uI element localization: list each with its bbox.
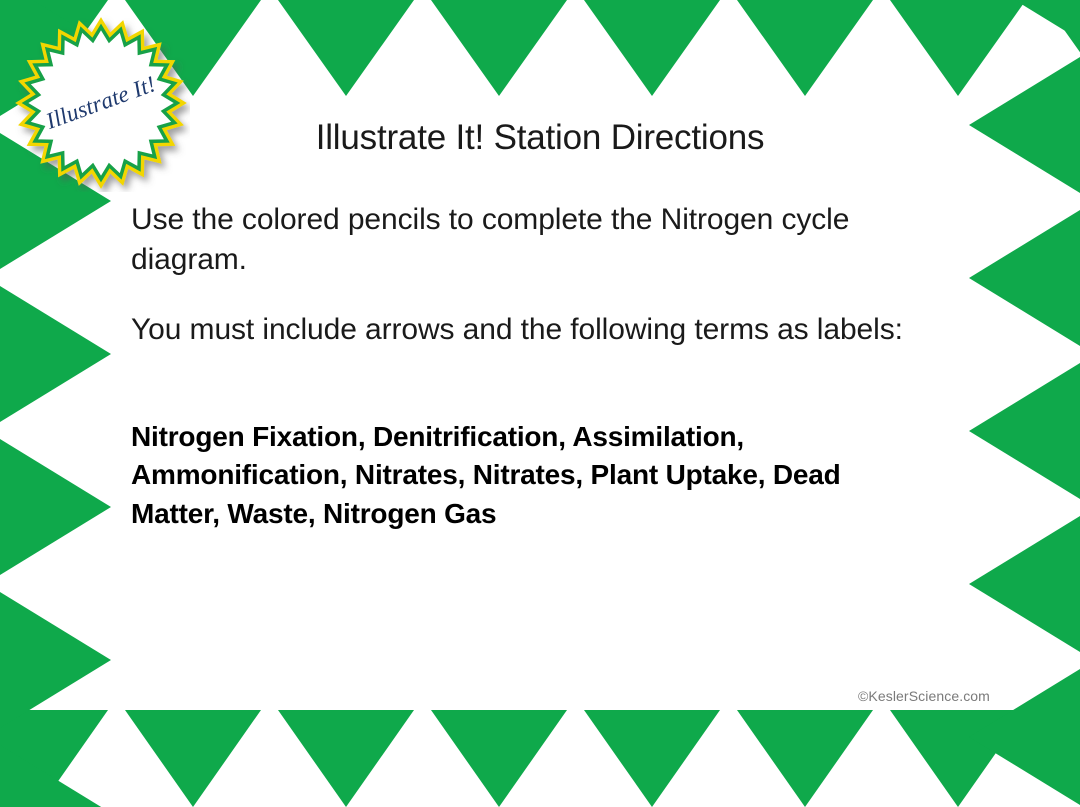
instruction-paragraph-1: Use the colored pencils to complete the … [131, 200, 961, 279]
border-triangle [0, 745, 111, 807]
border-triangle [737, 710, 873, 807]
border-triangle [1043, 0, 1080, 96]
border-triangle [890, 0, 1026, 96]
badge-label: Illustrate It! [43, 71, 160, 135]
border-triangle [969, 57, 1080, 193]
border-triangle [969, 0, 1080, 40]
border-triangle [1043, 710, 1080, 807]
border-triangle [278, 710, 414, 807]
border-triangle [969, 516, 1080, 652]
border-triangle [431, 0, 567, 96]
page-title: Illustrate It! Station Directions [111, 118, 969, 158]
border-triangle [584, 710, 720, 807]
illustrate-it-badge: Illustrate It! [12, 14, 190, 192]
border-triangle [0, 710, 108, 807]
slide-canvas: Illustrate It! Station Directions Use th… [0, 0, 1080, 807]
border-triangle [890, 710, 1026, 807]
border-triangle [278, 0, 414, 96]
border-triangle [737, 0, 873, 96]
border-triangle [969, 210, 1080, 346]
instruction-paragraph-2: You must include arrows and the followin… [131, 310, 906, 350]
required-terms-list: Nitrogen Fixation, Denitrification, Assi… [131, 418, 931, 533]
border-triangle [969, 363, 1080, 499]
border-triangle [431, 710, 567, 807]
border-triangle [0, 439, 111, 575]
border-triangle [584, 0, 720, 96]
copyright-notice: ©KeslerScience.com [858, 688, 990, 704]
border-band-bottom [0, 710, 1080, 807]
content-card [111, 96, 969, 710]
border-triangle [125, 710, 261, 807]
border-band-right [969, 0, 1080, 807]
border-triangle [0, 592, 111, 728]
border-triangle [0, 286, 111, 422]
